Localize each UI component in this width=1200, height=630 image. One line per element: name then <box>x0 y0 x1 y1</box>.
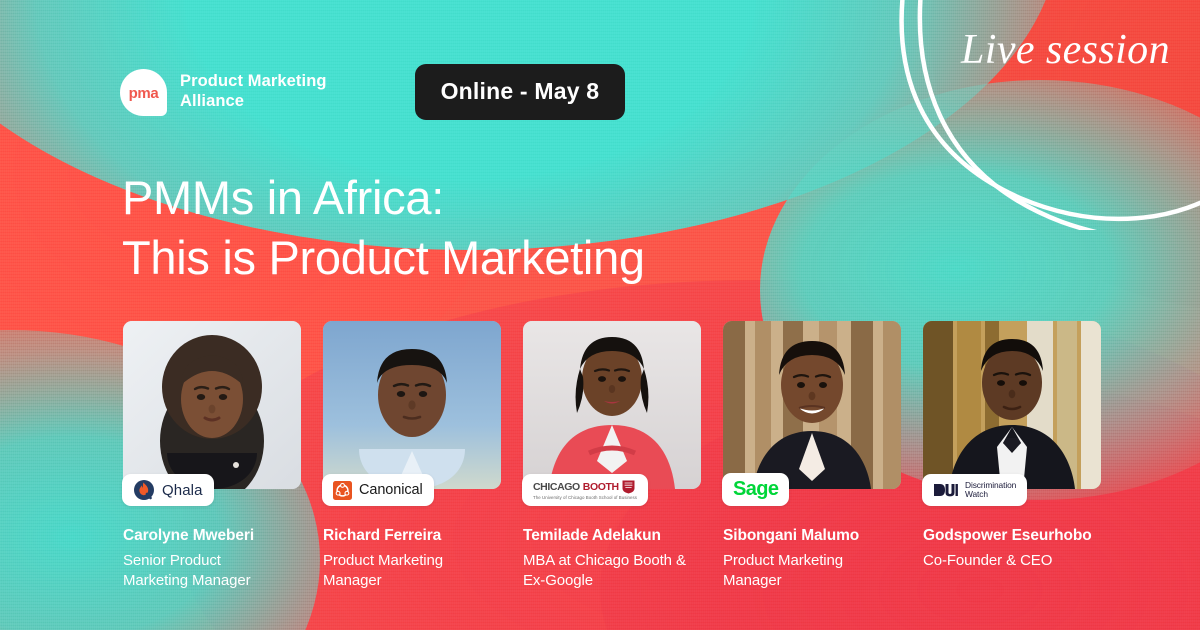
speaker-photo-wrap: CHICAGO BOOTH The University of Chicago … <box>523 321 701 489</box>
pma-logo-lockup[interactable]: pma Product Marketing Alliance <box>120 69 327 116</box>
speaker-photo <box>923 321 1101 489</box>
brand-name: Product Marketing Alliance <box>180 72 327 112</box>
pma-logo-mark-text: pma <box>129 86 159 101</box>
speaker-photo-wrap: Qhala <box>123 321 301 489</box>
discrimination-watch-monogram-icon <box>933 482 959 498</box>
speaker-portrait-illustration <box>723 321 901 489</box>
canonical-circle-of-friends-icon <box>333 481 352 500</box>
company-name: Canonical <box>359 482 423 498</box>
company-logo-badge: Sage <box>722 473 789 506</box>
speaker-name: Godspower Eseurhobo <box>923 526 1101 545</box>
speaker-portrait-illustration <box>523 321 701 489</box>
speaker-photo <box>323 321 501 489</box>
speakers-row: Qhala Carolyne Mweberi Senior Product Ma… <box>123 321 1101 590</box>
page-title: PMMs in Africa: This is Product Marketin… <box>122 168 645 288</box>
speaker-photo-wrap: Discrimination Watch <box>923 321 1101 489</box>
chicago-booth-word1: CHICAGO <box>533 481 580 493</box>
company-name: Discrimination Watch <box>965 481 1016 500</box>
speaker-name: Richard Ferreira <box>323 526 501 545</box>
speaker-role: Senior Product Marketing Manager <box>123 551 301 590</box>
company-logo-badge: Canonical <box>322 474 434 506</box>
speaker-portrait-illustration <box>323 321 501 489</box>
speaker-role: Product Marketing Manager <box>723 551 901 590</box>
speaker-photo <box>123 321 301 489</box>
speaker-portrait-illustration <box>923 321 1101 489</box>
company-name: Qhala <box>162 482 203 499</box>
company-logo-badge: Qhala <box>122 474 214 506</box>
pma-logo-icon: pma <box>120 69 167 116</box>
speaker-name: Temilade Adelakun <box>523 526 701 545</box>
speaker-photo <box>523 321 701 489</box>
speaker-card: Canonical Richard Ferreira Product Marke… <box>323 321 501 590</box>
header-bar: pma Product Marketing Alliance Online - … <box>120 64 625 120</box>
speaker-role: Product Marketing Manager <box>323 551 501 590</box>
speaker-name: Sibongani Malumo <box>723 526 901 545</box>
speaker-photo-wrap: Canonical <box>323 321 501 489</box>
company-logo-badge: CHICAGO BOOTH The University of Chicago … <box>522 474 648 506</box>
chicago-booth-crest-icon: CHICAGO BOOTH The University of Chicago … <box>533 480 637 500</box>
speaker-card: CHICAGO BOOTH The University of Chicago … <box>523 321 701 590</box>
speaker-role: MBA at Chicago Booth & Ex-Google <box>523 551 701 590</box>
speaker-card: Discrimination Watch Godspower Eseurhobo… <box>923 321 1101 590</box>
speaker-role: Co-Founder & CEO <box>923 551 1101 571</box>
chicago-booth-word2: BOOTH <box>583 481 619 493</box>
speaker-portrait-illustration <box>123 321 301 489</box>
speaker-card: Qhala Carolyne Mweberi Senior Product Ma… <box>123 321 301 590</box>
speaker-photo-wrap: Sage <box>723 321 901 489</box>
chicago-crest-shield-icon <box>622 480 635 494</box>
live-session-label: Live session <box>961 26 1170 74</box>
speaker-name: Carolyne Mweberi <box>123 526 301 545</box>
qhala-flame-icon <box>133 479 155 501</box>
discrimination-watch-wordmark: Discrimination Watch <box>965 481 1016 500</box>
date-badge: Online - May 8 <box>415 64 626 120</box>
chicago-booth-subtitle: The University of Chicago Booth School o… <box>533 495 637 500</box>
company-logo-badge: Discrimination Watch <box>922 474 1027 506</box>
sage-wordmark-icon: Sage <box>733 478 778 501</box>
speaker-photo <box>723 321 901 489</box>
speaker-card: Sage Sibongani Malumo Product Marketing … <box>723 321 901 590</box>
